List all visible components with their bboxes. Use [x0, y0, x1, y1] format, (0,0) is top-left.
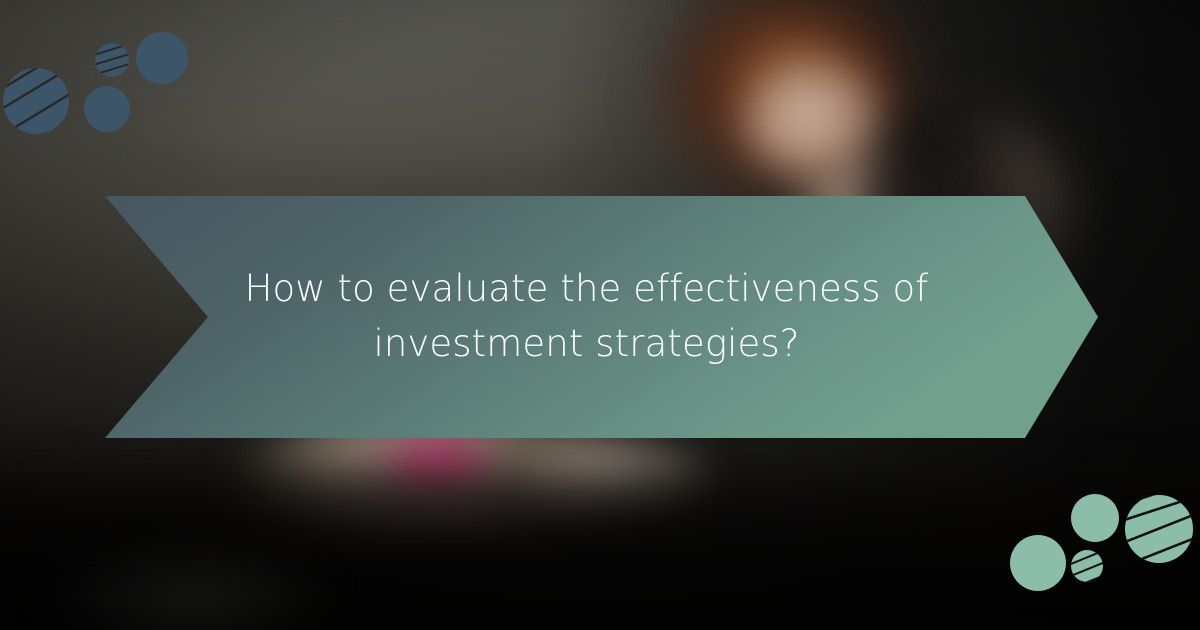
- headline-line-1: How to evaluate the effectiveness of: [245, 262, 929, 317]
- headline-text-block: How to evaluate the effectiveness of inv…: [105, 196, 1098, 438]
- share-card-canvas: How to evaluate the effectiveness of inv…: [0, 0, 1200, 630]
- headline-line-2: investment strategies?: [373, 317, 799, 372]
